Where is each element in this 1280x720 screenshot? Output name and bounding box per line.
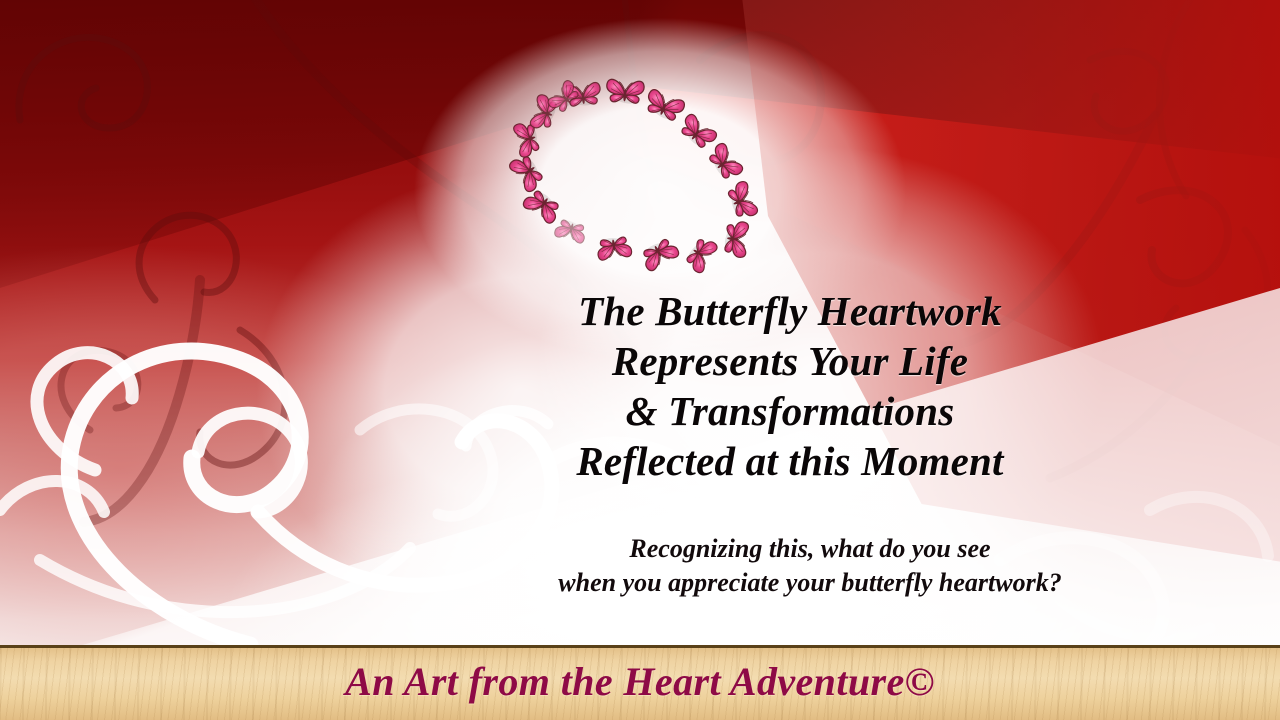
slide-title: The Butterfly Heartwork Represents Your … xyxy=(430,286,1150,486)
title-line-2: Represents Your Life xyxy=(430,336,1150,386)
footer-banner: An Art from the Heart Adventure© xyxy=(0,645,1280,720)
subtitle-line-2: when you appreciate your butterfly heart… xyxy=(430,566,1190,600)
footer-credit-text: An Art from the Heart Adventure© xyxy=(0,645,1280,720)
subtitle-line-1: Recognizing this, what do you see xyxy=(430,532,1190,566)
slide-subtitle: Recognizing this, what do you see when y… xyxy=(430,532,1190,600)
title-line-3: & Transformations xyxy=(430,386,1150,436)
title-line-4: Reflected at this Moment xyxy=(430,436,1150,486)
title-line-1: The Butterfly Heartwork xyxy=(430,286,1150,336)
slide-canvas: The Butterfly Heartwork Represents Your … xyxy=(0,0,1280,720)
